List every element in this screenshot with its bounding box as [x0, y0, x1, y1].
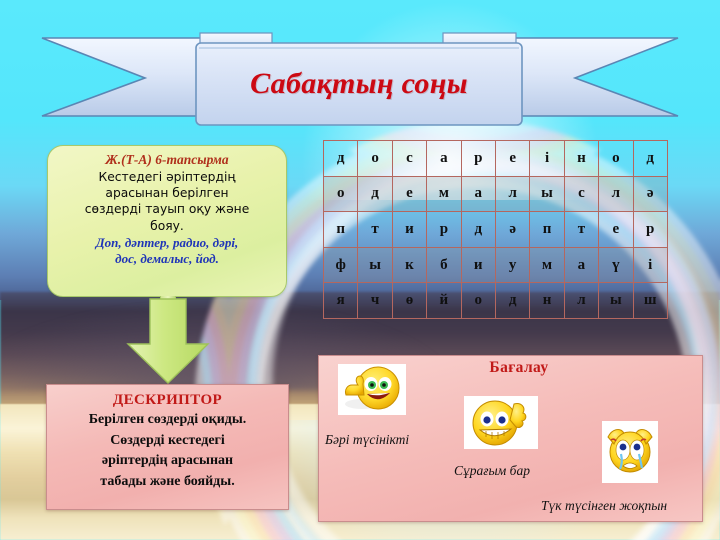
- letter-cell[interactable]: с: [564, 176, 598, 212]
- table-row: птирдәптер: [324, 212, 668, 248]
- task-word-list: Доп, дәптер, радио, дәрі, дос, демалыс, …: [56, 235, 278, 268]
- letter-cell[interactable]: ө: [392, 283, 426, 319]
- smiley-thumbs-up-icon: [338, 364, 406, 415]
- arrow-down-icon: [122, 297, 214, 387]
- letter-cell[interactable]: д: [461, 212, 495, 248]
- letter-cell[interactable]: о: [599, 141, 633, 177]
- table-row: одемалыслә: [324, 176, 668, 212]
- evaluation-label: Сұрағым бар: [454, 463, 530, 479]
- slide-canvas: Сабақтың соңы Ж.(Т-А) 6-тапсырма Кестеде…: [0, 0, 720, 540]
- letter-cell[interactable]: е: [495, 141, 529, 177]
- letter-cell[interactable]: с: [392, 141, 426, 177]
- letter-cell[interactable]: ч: [358, 283, 392, 319]
- task-words-line: Доп, дәптер, радио, дәрі,: [56, 235, 278, 252]
- table-row: досареінод: [324, 141, 668, 177]
- letter-cell[interactable]: п: [324, 212, 358, 248]
- letter-cell[interactable]: д: [358, 176, 392, 212]
- task-instruction-box: Ж.(Т-А) 6-тапсырма Кестедегі әріптердің …: [47, 145, 287, 297]
- page-title: Сабақтың соңы: [196, 43, 522, 125]
- letter-cell[interactable]: ы: [358, 247, 392, 283]
- letter-cell[interactable]: ә: [633, 176, 667, 212]
- letter-cell[interactable]: і: [530, 141, 564, 177]
- descriptor-box: ДЕСКРИПТОР Берілген сөздерді оқиды. Сөзд…: [46, 384, 289, 510]
- letter-cell[interactable]: у: [495, 247, 529, 283]
- letter-cell[interactable]: р: [461, 141, 495, 177]
- descriptor-heading: ДЕСКРИПТОР: [53, 391, 282, 410]
- letter-cell[interactable]: о: [358, 141, 392, 177]
- task-line: сөздерді тауып оқу және: [56, 201, 278, 217]
- letter-cell[interactable]: ы: [599, 283, 633, 319]
- table-row: фыкбиумаүі: [324, 247, 668, 283]
- letter-cell[interactable]: б: [427, 247, 461, 283]
- letter-cell[interactable]: а: [427, 141, 461, 177]
- letter-cell[interactable]: н: [530, 283, 564, 319]
- letter-cell[interactable]: р: [427, 212, 461, 248]
- evaluation-label: Бәрі түсінікті: [325, 432, 409, 448]
- task-line: арасынан берілген: [56, 185, 278, 201]
- letter-cell[interactable]: л: [495, 176, 529, 212]
- task-line: Кестедегі әріптердің: [56, 169, 278, 185]
- descriptor-line: Берілген сөздерді оқиды.: [53, 410, 282, 431]
- letter-cell[interactable]: р: [633, 212, 667, 248]
- descriptor-line: табады және бояйды.: [53, 472, 282, 493]
- task-line: бояу.: [56, 218, 278, 234]
- letter-cell[interactable]: ы: [530, 176, 564, 212]
- smiley-crying-icon: [602, 421, 658, 483]
- banner-ribbon: Сабақтың соңы: [0, 0, 720, 135]
- letter-search-table[interactable]: досареінододемалысләптирдәптерфыкбиумаүі…: [323, 140, 668, 319]
- letter-cell[interactable]: м: [530, 247, 564, 283]
- letter-cell[interactable]: ф: [324, 247, 358, 283]
- descriptor-line: Сөздерді кестедегі: [53, 431, 282, 452]
- evaluation-title: Бағалау: [439, 359, 599, 377]
- task-instruction-text: Кестедегі әріптердің арасынан берілген с…: [56, 169, 278, 234]
- letter-cell[interactable]: м: [427, 176, 461, 212]
- letter-cell[interactable]: и: [392, 212, 426, 248]
- table-row: ячөйоднлыш: [324, 283, 668, 319]
- letter-cell[interactable]: д: [633, 141, 667, 177]
- evaluation-box: Бағалау: [318, 355, 703, 522]
- evaluation-label: Түк түсінген жоқпын: [541, 498, 667, 514]
- letter-cell[interactable]: д: [324, 141, 358, 177]
- letter-cell[interactable]: л: [564, 283, 598, 319]
- letter-cell[interactable]: е: [599, 212, 633, 248]
- letter-cell[interactable]: т: [564, 212, 598, 248]
- letter-cell[interactable]: е: [392, 176, 426, 212]
- letter-cell[interactable]: н: [564, 141, 598, 177]
- letter-cell[interactable]: п: [530, 212, 564, 248]
- letter-cell[interactable]: я: [324, 283, 358, 319]
- task-words-line: дос, демалыс, йод.: [56, 251, 278, 268]
- letter-cell[interactable]: ш: [633, 283, 667, 319]
- letter-cell[interactable]: ә: [495, 212, 529, 248]
- letter-cell[interactable]: о: [461, 283, 495, 319]
- letter-cell[interactable]: а: [461, 176, 495, 212]
- letter-cell[interactable]: і: [633, 247, 667, 283]
- letter-cell[interactable]: ү: [599, 247, 633, 283]
- letter-cell[interactable]: й: [427, 283, 461, 319]
- letter-cell[interactable]: о: [324, 176, 358, 212]
- smiley-hand-raised-icon: [464, 396, 538, 449]
- letter-cell[interactable]: к: [392, 247, 426, 283]
- descriptor-text: Берілген сөздерді оқиды. Сөздерді кестед…: [53, 410, 282, 492]
- letter-cell[interactable]: и: [461, 247, 495, 283]
- task-heading: Ж.(Т-А) 6-тапсырма: [56, 151, 278, 168]
- letter-cell[interactable]: л: [599, 176, 633, 212]
- letter-cell[interactable]: а: [564, 247, 598, 283]
- letter-cell[interactable]: т: [358, 212, 392, 248]
- letter-cell[interactable]: д: [495, 283, 529, 319]
- descriptor-line: әріптердің арасынан: [53, 451, 282, 472]
